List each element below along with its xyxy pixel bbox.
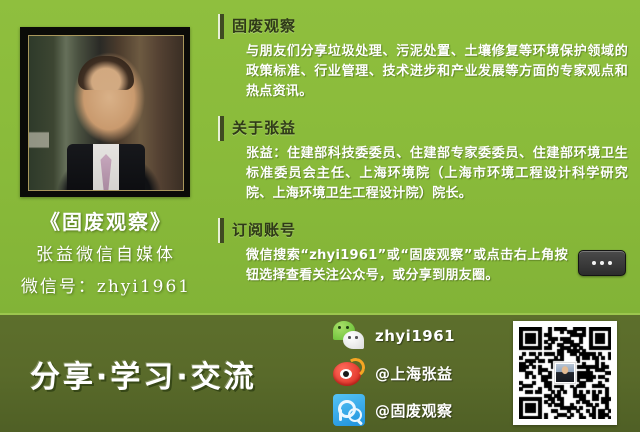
poster-root: 《固废观察》 张益微信自媒体 微信号：zhyi1961 固废观察 与朋友们分享垃… <box>0 0 640 432</box>
qr-center-avatar <box>554 362 576 384</box>
section-accent-bar <box>218 116 224 141</box>
section-about: 关于张益 张益：住建部科技委委员、住建部专家委委员、住建部环境卫生标准委员会主任… <box>218 116 628 204</box>
qr-matrix <box>519 327 611 419</box>
section-observation: 固废观察 与朋友们分享垃圾处理、污泥处置、土壤修复等环境保护领域的政策标准、行业… <box>218 14 628 102</box>
footer-slogan: 分享·学习·交流 <box>30 352 257 396</box>
section-accent-bar <box>218 218 224 243</box>
section-body: 与朋友们分享垃圾处理、污泥处置、土壤修复等环境保护领域的政策标准、行业管理、技术… <box>218 42 628 102</box>
social-label: zhyi1961 <box>375 327 455 345</box>
dot-icon <box>600 261 604 265</box>
wechat-qr-code[interactable] <box>513 321 617 425</box>
dot-icon <box>592 261 596 265</box>
section-accent-bar <box>218 14 224 39</box>
section-header: 固废观察 <box>218 14 628 40</box>
sections-column: 固废观察 与朋友们分享垃圾处理、污泥处置、土壤修复等环境保护领域的政策标准、行业… <box>218 14 628 300</box>
search-icon <box>333 394 365 426</box>
wechat-icon <box>333 320 365 352</box>
wechat-id-line: 微信号：zhyi1961 <box>0 272 212 297</box>
section-title: 关于张益 <box>232 119 296 137</box>
social-row-wechat[interactable]: zhyi1961 <box>333 318 503 354</box>
social-label: @上海张益 <box>375 363 453 384</box>
portrait-tie <box>101 154 112 190</box>
social-list: zhyi1961 @上海张益 @固废观察 <box>333 318 503 429</box>
weibo-icon <box>333 357 365 389</box>
dot-icon <box>608 261 612 265</box>
more-options-button[interactable] <box>578 250 626 276</box>
publication-title: 《固废观察》 <box>0 206 212 235</box>
social-label: @固废观察 <box>375 400 453 421</box>
section-header: 关于张益 <box>218 116 628 142</box>
section-header: 订阅账号 <box>218 218 628 244</box>
section-subscribe: 订阅账号 微信搜索“zhyi1961”或“固废观察”或点击右上角按钮选择查看关注… <box>218 218 628 286</box>
social-row-weibo[interactable]: @上海张益 <box>333 355 503 391</box>
section-title: 固废观察 <box>232 17 296 35</box>
portrait-frame <box>20 27 190 197</box>
section-body: 张益：住建部科技委委员、住建部专家委委员、住建部环境卫生标准委员会主任、上海环境… <box>218 144 628 204</box>
publication-subtitle: 张益微信自媒体 <box>0 240 212 265</box>
section-title: 订阅账号 <box>232 221 296 239</box>
portrait-photo <box>29 36 183 190</box>
social-row-search[interactable]: @固废观察 <box>333 392 503 428</box>
portrait-head <box>78 56 134 90</box>
section-body: 微信搜索“zhyi1961”或“固废观察”或点击右上角按钮选择查看关注公众号，或… <box>218 246 628 286</box>
portrait-inner-border <box>28 35 184 191</box>
